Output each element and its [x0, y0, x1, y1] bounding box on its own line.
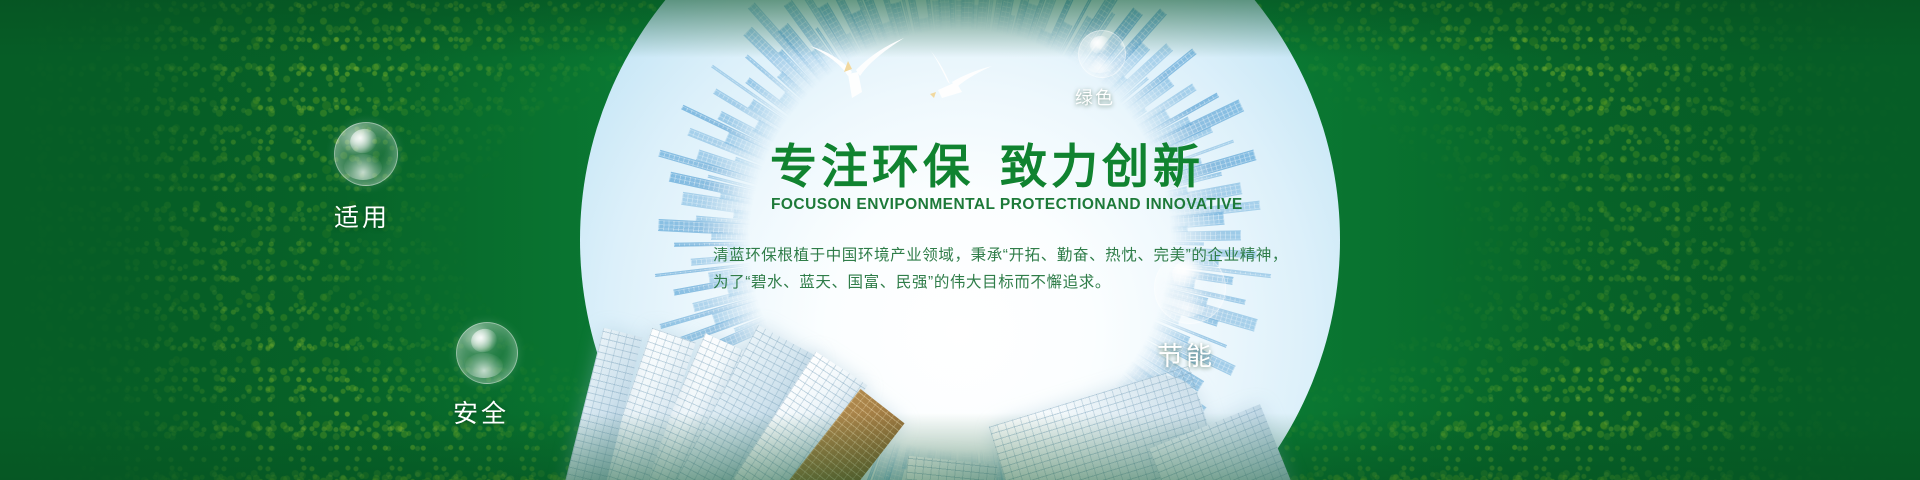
- hero-banner: 适用 安全 绿色 节能 专注环保致力创新 FOCUSON ENVIPONMENT…: [0, 0, 1920, 480]
- feature-lvse[interactable]: 绿色: [1064, 30, 1126, 110]
- body-line-1: 清蓝环保根植于中国环境产业领域，秉承“开拓、勤奋、热忱、完美”的企业精神，: [713, 243, 1288, 265]
- feature-label: 安全: [444, 394, 518, 430]
- feature-shiyong[interactable]: 适用: [326, 122, 398, 234]
- feature-anquan[interactable]: 安全: [444, 322, 518, 430]
- feature-label: 绿色: [1064, 84, 1126, 110]
- seagull-icon: [800, 28, 910, 106]
- headline-part-2: 致力创新: [1000, 140, 1204, 193]
- bubble-icon: [456, 322, 518, 384]
- feature-jieneng[interactable]: 节能: [1146, 252, 1226, 373]
- feature-label: 节能: [1146, 336, 1226, 373]
- body-line-2: 为了“碧水、蓝天、国富、民强”的伟大目标而不懈追求。: [713, 270, 1111, 292]
- seagull-icon: [908, 48, 994, 110]
- headline-part-1: 专注环保: [770, 140, 974, 193]
- subtitle: FOCUSON ENVIPONMENTAL PROTECTIONAND INNO…: [771, 196, 1243, 214]
- feature-label: 适用: [326, 198, 398, 234]
- page-title: 专注环保致力创新: [770, 128, 1204, 197]
- bubble-icon: [334, 122, 398, 186]
- bubble-icon: [1078, 30, 1126, 78]
